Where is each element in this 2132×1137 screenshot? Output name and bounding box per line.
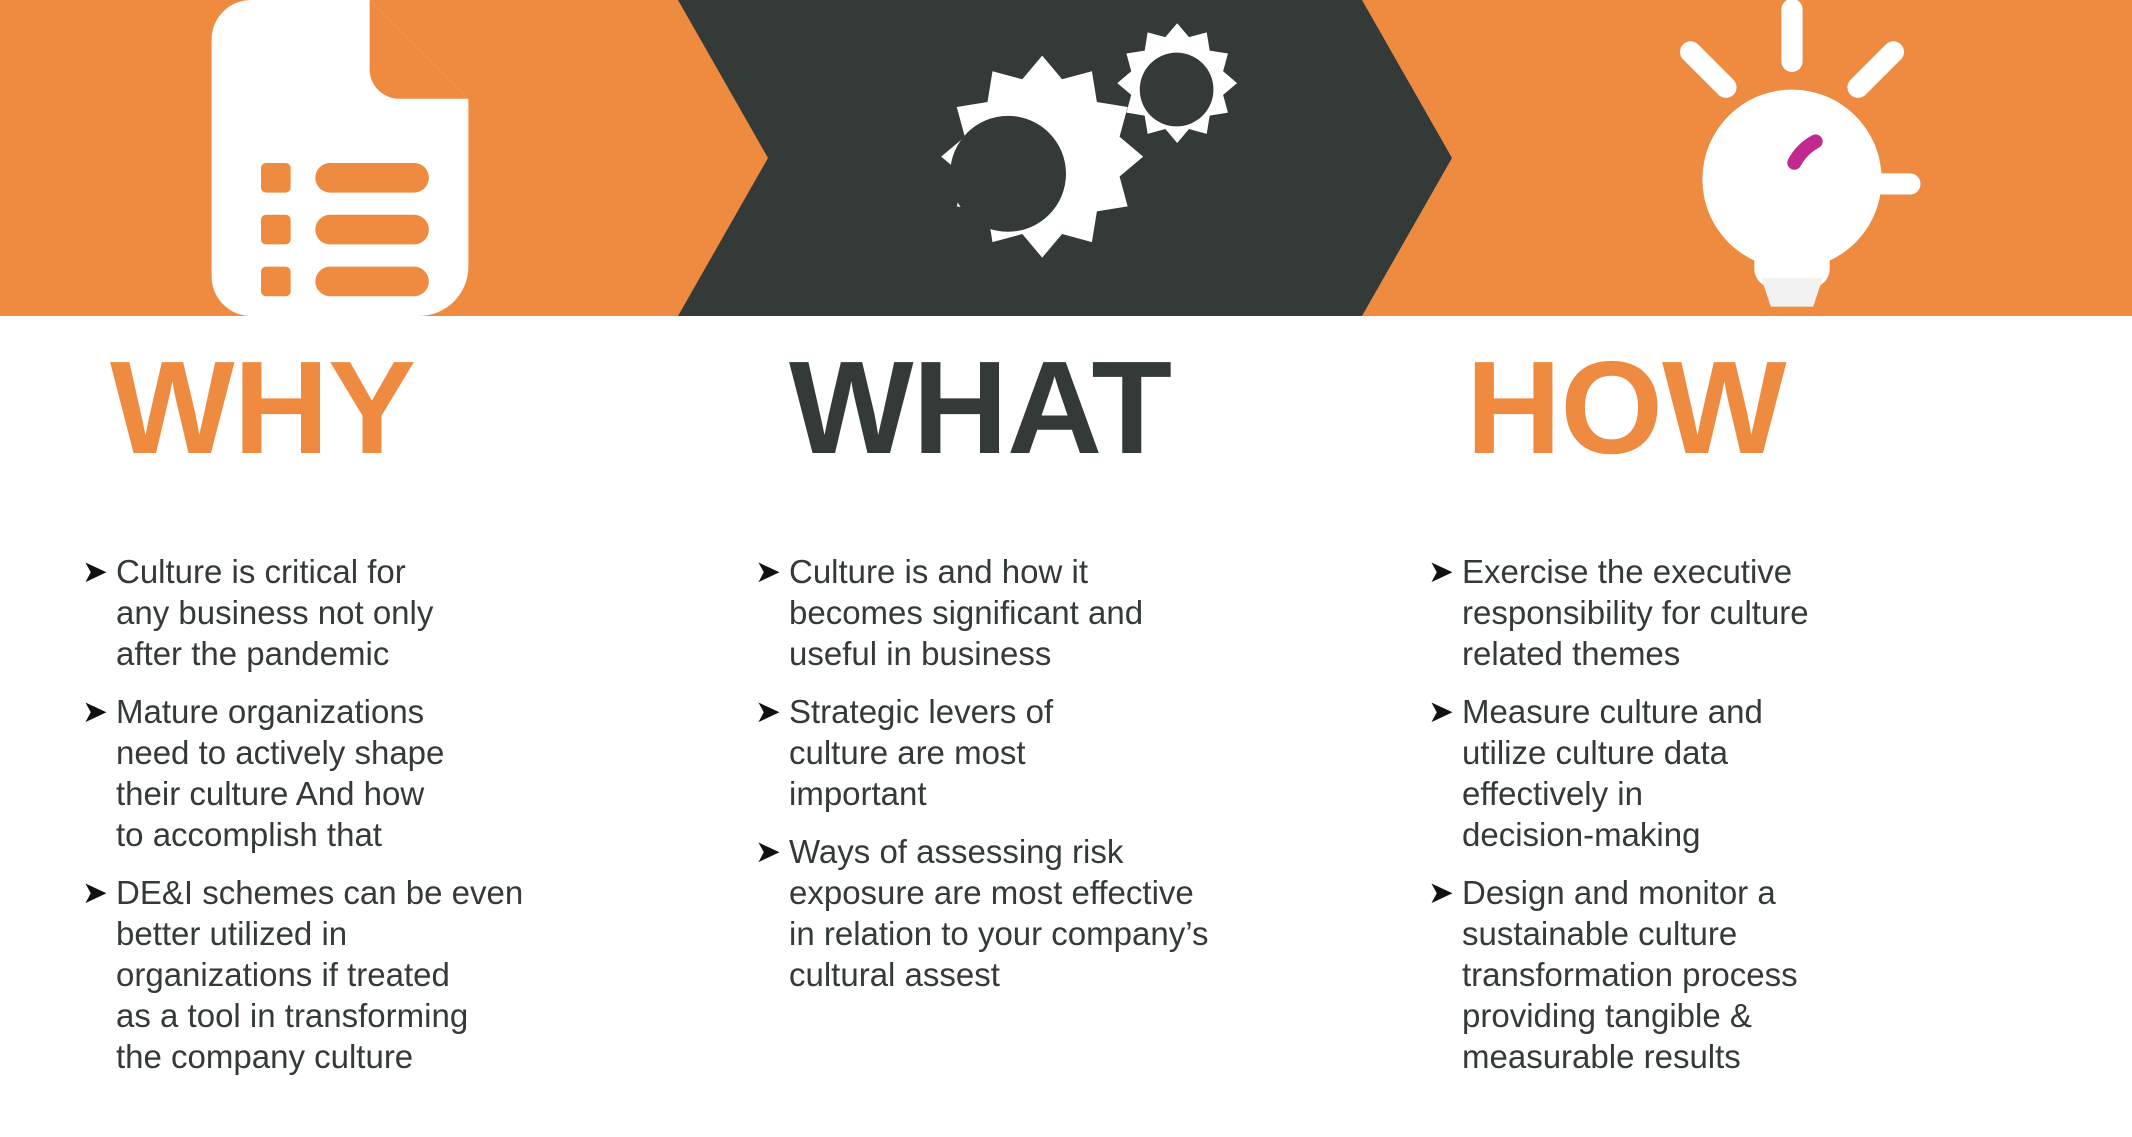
bullet-arrow-icon: ➤ — [749, 691, 789, 732]
column-why: WHY ➤ Culture is critical for any busine… — [0, 316, 711, 1137]
list-item: ➤ Design and monitor a sustainable cultu… — [1422, 872, 2002, 1077]
list-item: ➤ Measure culture and utilize culture da… — [1422, 691, 2002, 855]
bullet-arrow-icon: ➤ — [749, 551, 789, 592]
list-item: ➤ DE&I schemes can be even better utiliz… — [76, 872, 616, 1077]
list-item-text: Strategic levers of culture are most imp… — [789, 691, 1309, 814]
list-item: ➤ Strategic levers of culture are most i… — [749, 691, 1309, 814]
column-what: WHAT ➤ Culture is and how it becomes sig… — [711, 316, 1422, 1137]
list-item: ➤ Exercise the executive responsibility … — [1422, 551, 2002, 674]
bullet-arrow-icon: ➤ — [749, 831, 789, 872]
list-item-text: Measure culture and utilize culture data… — [1462, 691, 2002, 855]
bullet-arrow-icon: ➤ — [1422, 872, 1462, 913]
segment-why-shape — [0, 0, 768, 316]
list-item-text: Ways of assessing risk exposure are most… — [789, 831, 1309, 995]
list-item-text: Exercise the executive responsibility fo… — [1462, 551, 2002, 674]
list-item: ➤ Mature organizations need to actively … — [76, 691, 616, 855]
segment-how-shape — [1362, 0, 2132, 316]
bullet-arrow-icon: ➤ — [1422, 551, 1462, 592]
columns-container: WHY ➤ Culture is critical for any busine… — [0, 316, 2132, 1137]
list-item: ➤ Culture is and how it becomes signific… — [749, 551, 1309, 674]
column-how: HOW ➤ Exercise the executive responsibil… — [1422, 316, 2132, 1137]
list-item: ➤ Ways of assessing risk exposure are mo… — [749, 831, 1309, 995]
column-title-what: WHAT — [789, 342, 1171, 474]
list-item-text: Mature organizations need to actively sh… — [116, 691, 616, 855]
bullet-arrow-icon: ➤ — [76, 872, 116, 913]
list-item-text: Design and monitor a sustainable culture… — [1462, 872, 2002, 1077]
bullet-arrow-icon: ➤ — [1422, 691, 1462, 732]
list-item-text: DE&I schemes can be even better utilized… — [116, 872, 616, 1077]
list-item-text: Culture is critical for any business not… — [116, 551, 616, 674]
chevron-band — [0, 0, 2132, 316]
infographic-slide: WHY ➤ Culture is critical for any busine… — [0, 0, 2132, 1137]
bullet-list-what: ➤ Culture is and how it becomes signific… — [749, 551, 1309, 1012]
bullet-list-why: ➤ Culture is critical for any business n… — [76, 551, 616, 1094]
list-item: ➤ Culture is critical for any business n… — [76, 551, 616, 674]
bullet-arrow-icon: ➤ — [76, 551, 116, 592]
list-item-text: Culture is and how it becomes significan… — [789, 551, 1309, 674]
bullet-arrow-icon: ➤ — [76, 691, 116, 732]
column-title-why: WHY — [110, 342, 415, 474]
bullet-list-how: ➤ Exercise the executive responsibility … — [1422, 551, 2002, 1094]
column-title-how: HOW — [1466, 342, 1786, 474]
